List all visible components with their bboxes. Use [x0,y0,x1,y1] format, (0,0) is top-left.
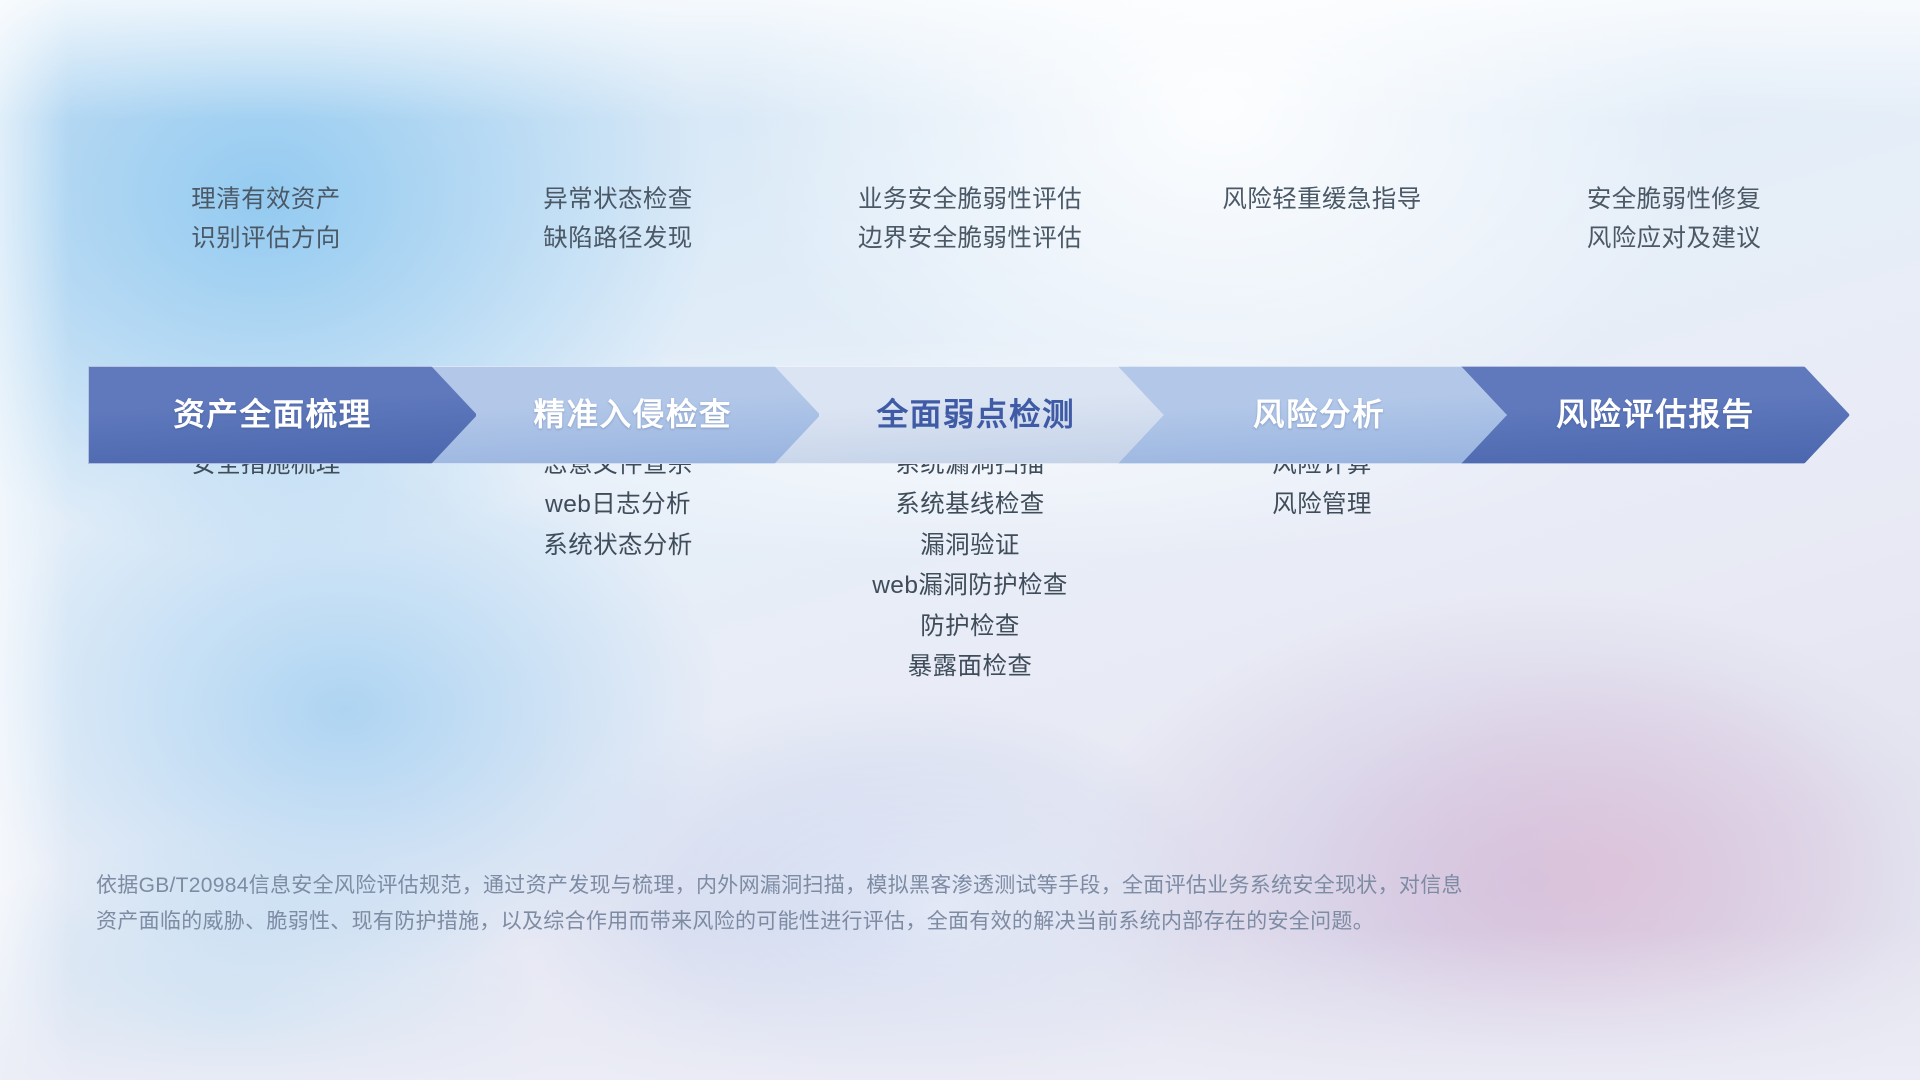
process-step-4[interactable]: 风险分析 [1118,366,1507,464]
bottom-caption-item: web漏洞防护检查 [872,574,1068,599]
bottom-caption-item: 暴露面检查 [908,655,1033,680]
top-caption-item: 异常状态检查 [543,188,692,213]
process-step-label: 全面弱点检测 [774,399,1163,431]
process-step-3[interactable]: 全面弱点检测 [774,366,1163,464]
top-caption-column-4: 风险轻重缓急指导 [1146,188,1498,288]
top-caption-row: 理清有效资产识别评估方向异常状态检查缺陷路径发现业务安全脆弱性评估边界安全脆弱性… [90,188,1850,288]
top-caption-column-3: 业务安全脆弱性评估边界安全脆弱性评估 [794,188,1146,288]
process-step-label: 风险分析 [1118,399,1507,431]
bottom-caption-item: 风险管理 [1272,493,1372,518]
top-caption-item: 识别评估方向 [191,227,340,252]
top-caption-item: 风险应对及建议 [1587,227,1761,252]
bottom-caption-item: 漏洞验证 [920,534,1020,559]
top-caption-column-1: 理清有效资产识别评估方向 [90,188,442,288]
bottom-caption-item: 系统基线检查 [895,493,1044,518]
top-caption-column-5: 安全脆弱性修复风险应对及建议 [1498,188,1850,288]
top-caption-item: 风险轻重缓急指导 [1222,188,1421,213]
footer-line-2: 资产面临的威胁、脆弱性、现有防护措施，以及综合作用而带来风险的可能性进行评估，全… [96,904,1616,940]
process-step-label: 风险评估报告 [1461,399,1850,431]
bottom-caption-item: 系统状态分析 [543,534,692,559]
top-caption-column-2: 异常状态检查缺陷路径发现 [442,188,794,288]
bottom-caption-item: 防护检查 [920,615,1020,640]
process-diagram: 理清有效资产识别评估方向异常状态检查缺陷路径发现业务安全脆弱性评估边界安全脆弱性… [0,0,1920,1080]
process-chevron-banner: 资产全面梳理精准入侵检查全面弱点检测风险分析风险评估报告 [88,366,1850,464]
top-caption-item: 边界安全脆弱性评估 [858,227,1082,252]
process-step-1[interactable]: 资产全面梳理 [88,366,477,464]
footer-description: 依据GB/T20984信息安全风险评估规范，通过资产发现与梳理，内外网漏洞扫描，… [96,868,1616,940]
process-step-label: 精准入侵检查 [431,399,820,431]
top-caption-item: 安全脆弱性修复 [1587,188,1761,213]
top-caption-item: 缺陷路径发现 [543,227,692,252]
top-caption-item: 业务安全脆弱性评估 [858,188,1082,213]
process-step-2[interactable]: 精准入侵检查 [431,366,820,464]
process-step-5[interactable]: 风险评估报告 [1461,366,1850,464]
top-caption-item: 理清有效资产 [191,188,340,213]
process-step-label: 资产全面梳理 [88,399,477,431]
bottom-caption-item: web日志分析 [545,493,691,518]
footer-line-1: 依据GB/T20984信息安全风险评估规范，通过资产发现与梳理，内外网漏洞扫描，… [96,868,1616,904]
